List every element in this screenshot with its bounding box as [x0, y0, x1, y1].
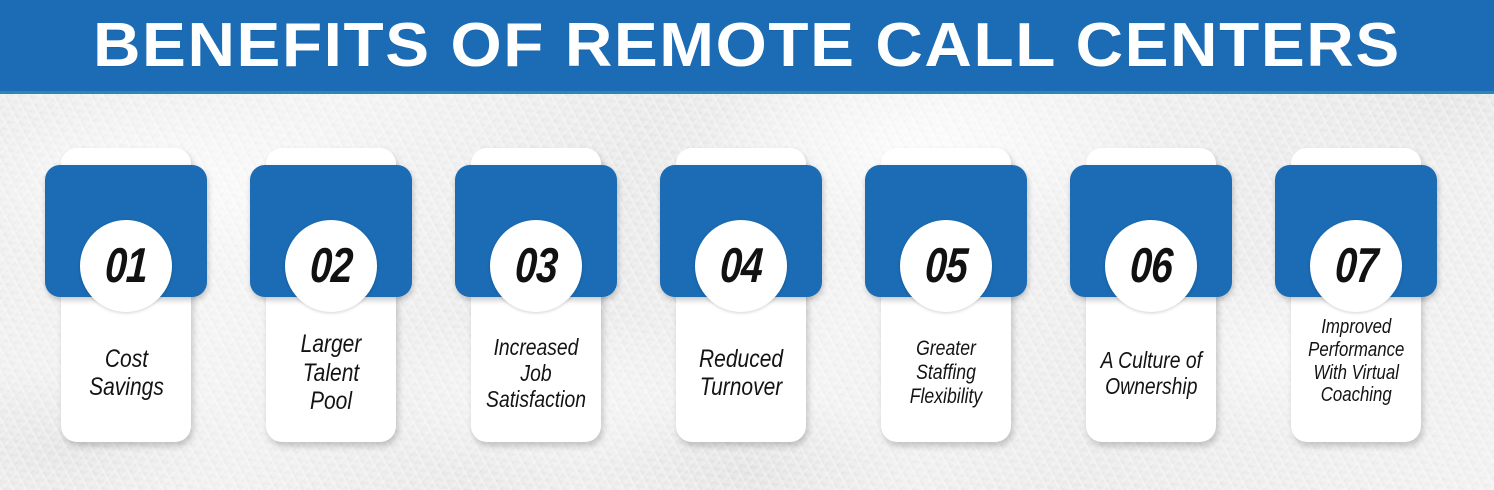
- card-label: Larger Talent Pool: [266, 310, 396, 436]
- infographic-canvas: BENEFITS OF REMOTE CALL CENTERS 01Cost S…: [0, 0, 1494, 490]
- benefit-card[interactable]: 01Cost Savings: [45, 148, 207, 448]
- card-number-circle: 07: [1310, 220, 1402, 312]
- card-label: A Culture of Ownership: [1086, 310, 1216, 436]
- card-number-circle: 05: [900, 220, 992, 312]
- card-label: Cost Savings: [61, 310, 191, 436]
- card-number-circle: 04: [695, 220, 787, 312]
- card-number: 05: [924, 242, 969, 291]
- card-number-circle: 01: [80, 220, 172, 312]
- card-number: 03: [514, 242, 559, 291]
- card-label-text: Larger Talent Pool: [280, 330, 382, 416]
- card-number: 07: [1334, 242, 1379, 291]
- card-number: 04: [719, 242, 764, 291]
- card-label-text: Greater Staffing Flexibility: [895, 337, 997, 409]
- benefit-cards-row: 01Cost Savings02Larger Talent Pool03Incr…: [45, 148, 1449, 448]
- card-number: 01: [104, 242, 149, 291]
- card-label: Improved Performance With Virtual Coachi…: [1291, 310, 1421, 436]
- benefit-card[interactable]: 02Larger Talent Pool: [250, 148, 412, 448]
- card-label: Reduced Turnover: [676, 310, 806, 436]
- card-number-circle: 06: [1105, 220, 1197, 312]
- card-label-text: Improved Performance With Virtual Coachi…: [1308, 316, 1404, 407]
- benefit-card[interactable]: 07Improved Performance With Virtual Coac…: [1275, 148, 1437, 448]
- card-label-text: Reduced Turnover: [699, 345, 783, 402]
- card-label-text: Cost Savings: [89, 345, 164, 402]
- benefit-card[interactable]: 06A Culture of Ownership: [1070, 148, 1232, 448]
- card-label-text: A Culture of Ownership: [1100, 347, 1201, 399]
- page-title: BENEFITS OF REMOTE CALL CENTERS: [93, 15, 1401, 77]
- benefit-card[interactable]: 05Greater Staffing Flexibility: [865, 148, 1027, 448]
- card-number-circle: 02: [285, 220, 377, 312]
- card-label: Greater Staffing Flexibility: [881, 310, 1011, 436]
- benefit-card[interactable]: 04Reduced Turnover: [660, 148, 822, 448]
- card-label-text: Increased Job Satisfaction: [485, 334, 587, 413]
- benefit-card[interactable]: 03Increased Job Satisfaction: [455, 148, 617, 448]
- card-number: 02: [309, 242, 354, 291]
- header-banner: BENEFITS OF REMOTE CALL CENTERS: [0, 0, 1494, 94]
- card-number: 06: [1129, 242, 1174, 291]
- card-label: Increased Job Satisfaction: [471, 310, 601, 436]
- card-number-circle: 03: [490, 220, 582, 312]
